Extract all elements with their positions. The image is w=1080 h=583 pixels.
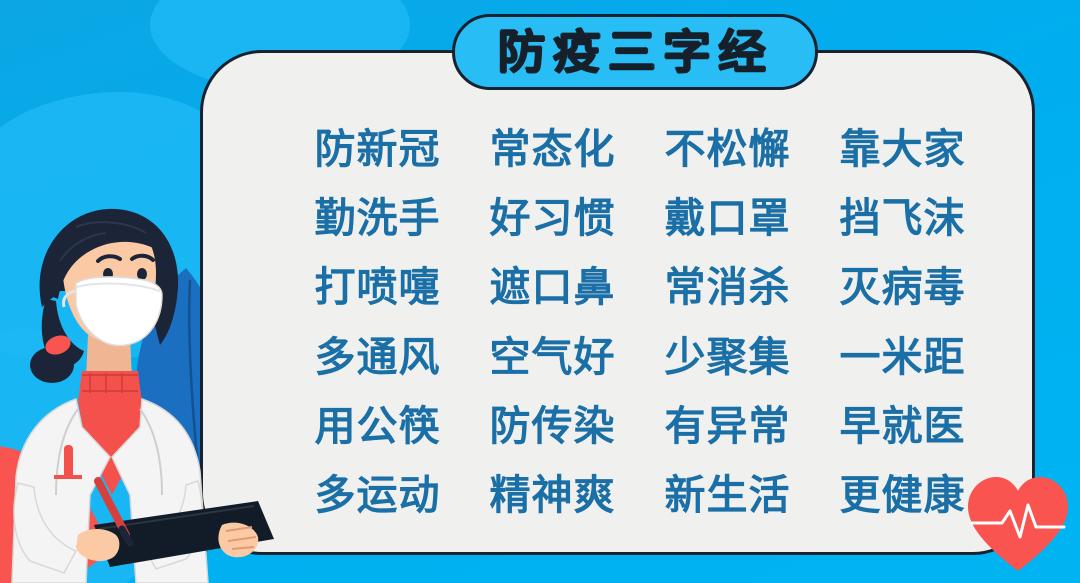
phrase-item: 空气好 xyxy=(490,337,616,378)
phrase-item: 用公筷 xyxy=(315,406,441,447)
phrase-item: 打喷嚏 xyxy=(315,267,441,308)
phrase-item: 少聚集 xyxy=(665,337,791,378)
phrase-item: 勤洗手 xyxy=(315,198,441,239)
phrase-item: 常态化 xyxy=(490,129,616,170)
phrase-item: 挡飞沫 xyxy=(840,198,966,239)
heart-with-heartbeat-icon xyxy=(964,475,1072,575)
phrase-item: 不松懈 xyxy=(665,129,791,170)
poster-root: 防疫三字经 防新冠 常态化 不松懈 靠大家 勤洗手 好习惯 戴口罩 挡飞沫 打喷… xyxy=(0,0,1080,583)
doctor-illustration xyxy=(0,195,280,583)
phrase-item: 更健康 xyxy=(840,475,966,516)
phrase-grid: 防新冠 常态化 不松懈 靠大家 勤洗手 好习惯 戴口罩 挡飞沫 打喷嚏 遮口鼻 … xyxy=(290,115,990,530)
phrase-item: 防新冠 xyxy=(315,129,441,170)
phrase-item: 新生活 xyxy=(665,475,791,516)
phrase-item: 有异常 xyxy=(665,406,791,447)
phrase-item: 早就医 xyxy=(840,406,966,447)
phrase-item: 靠大家 xyxy=(840,129,966,170)
phrase-item: 多通风 xyxy=(315,337,441,378)
phrase-item: 多运动 xyxy=(315,475,441,516)
phrase-item: 防传染 xyxy=(490,406,616,447)
phrase-item: 精神爽 xyxy=(490,475,616,516)
phrase-item: 好习惯 xyxy=(490,198,616,239)
phrase-item: 灭病毒 xyxy=(840,267,966,308)
phrase-item: 一米距 xyxy=(840,337,966,378)
page-title: 防疫三字经 xyxy=(497,29,773,75)
title-badge: 防疫三字经 xyxy=(452,14,818,90)
phrase-item: 遮口鼻 xyxy=(490,267,616,308)
phrase-item: 戴口罩 xyxy=(665,198,791,239)
phrase-item: 常消杀 xyxy=(665,267,791,308)
